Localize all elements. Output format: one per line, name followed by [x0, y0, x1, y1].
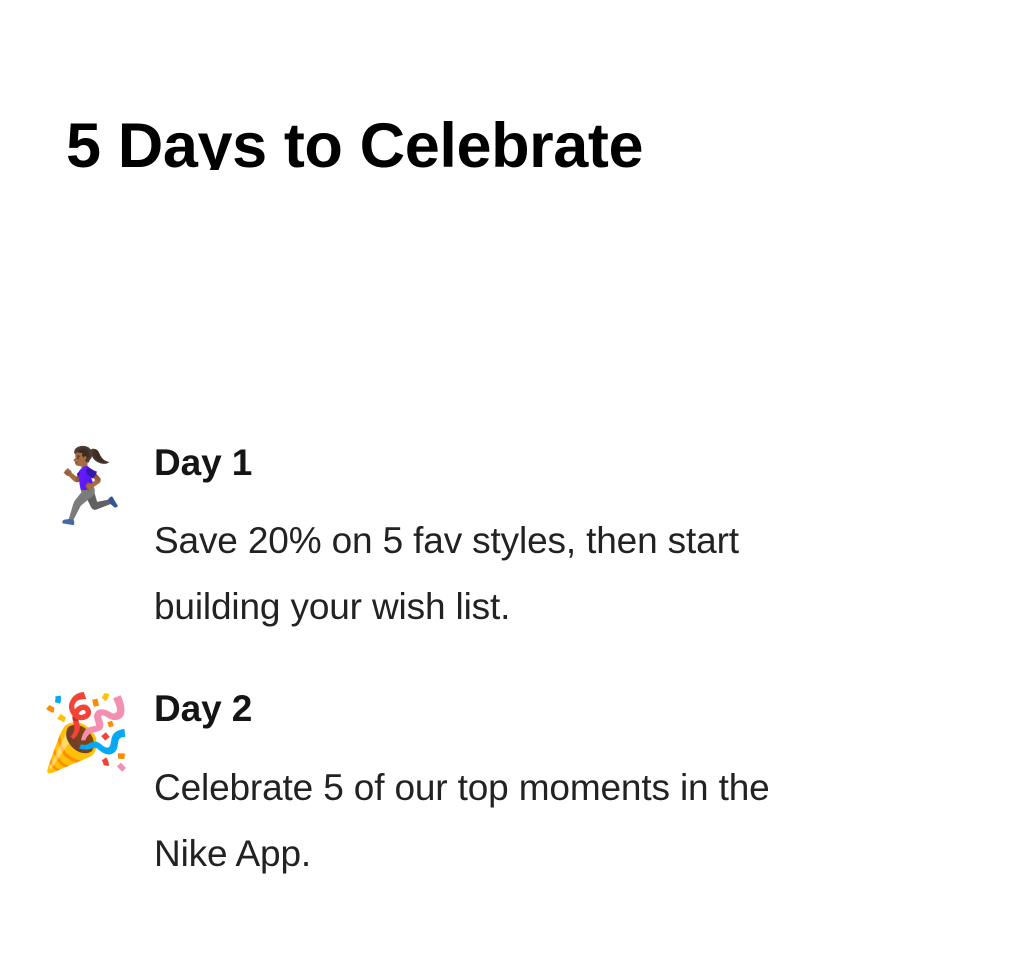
- day-heading: Day 1: [154, 440, 836, 486]
- day-heading: Day 2: [154, 686, 836, 732]
- list-item: 🏃🏾‍♀️ Day 1 Save 20% on 5 fav styles, th…: [0, 440, 1024, 640]
- day-content: Day 2 Celebrate 5 of our top moments in …: [136, 686, 836, 886]
- woman-running-icon: 🏃🏾‍♀️: [40, 440, 136, 524]
- day-content: Day 1 Save 20% on 5 fav styles, then sta…: [136, 440, 836, 640]
- party-popper-icon: 🎉: [40, 686, 136, 770]
- day-description: Celebrate 5 of our top moments in the Ni…: [154, 755, 814, 887]
- promo-page: 5 Days to Celebrate 🏃🏾‍♀️ Day 1 Save 20%…: [0, 0, 1024, 969]
- day-list: 🏃🏾‍♀️ Day 1 Save 20% on 5 fav styles, th…: [0, 440, 1024, 933]
- hero-media-region: [0, 170, 1024, 440]
- list-item: 🎉 Day 2 Celebrate 5 of our top moments i…: [0, 686, 1024, 886]
- day-description: Save 20% on 5 fav styles, then start bui…: [154, 508, 814, 640]
